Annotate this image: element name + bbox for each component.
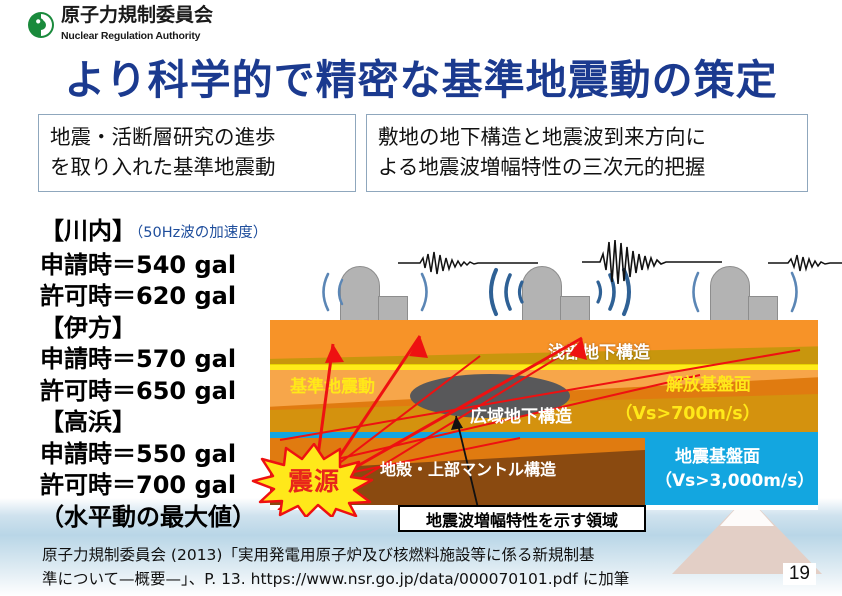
row-label: 申請時＝ bbox=[40, 251, 136, 279]
seismograph-trace-left bbox=[398, 246, 538, 280]
row-value: 650 gal bbox=[136, 377, 236, 405]
amplification-callout: 地震波増幅特性を示す領域 bbox=[398, 505, 646, 532]
callout-box-right: 敷地の地下構造と地震波到来方向に よる地震波増幅特性の三次元的把握 bbox=[366, 114, 808, 192]
hz-note: （50Hz波の加速度） bbox=[136, 225, 267, 241]
site-1-header: 【伊方】 bbox=[40, 313, 290, 345]
hypocenter-marker: 震源 bbox=[248, 443, 380, 517]
logo-title-en: Nuclear Regulation Authority bbox=[61, 30, 200, 42]
power-plant-row bbox=[270, 250, 830, 322]
logo-title-jp: 原子力規制委員会 bbox=[61, 4, 213, 26]
page-number: 19 bbox=[783, 563, 816, 585]
source-citation: 原子力規制委員会 (2013)「実用発電用原子炉及び核燃料施設等に係る新規制基 … bbox=[42, 543, 742, 591]
seismograph-trace-right bbox=[768, 246, 842, 280]
hypocenter-label: 震源 bbox=[248, 443, 380, 517]
row-label: 申請時＝ bbox=[40, 345, 136, 373]
row-label: 許可時＝ bbox=[40, 377, 136, 405]
seismograph-trace-center bbox=[582, 238, 722, 286]
site-1-row-0: 申請時＝570 gal bbox=[40, 344, 290, 376]
wave-arcs-left bbox=[312, 268, 358, 316]
nra-logo: 原子力規制委員会 Nuclear Regulation Authority bbox=[27, 6, 213, 44]
callout-box-left: 地震・活断層研究の進歩 を取り入れた基準地震動 bbox=[38, 114, 356, 192]
row-value: 700 gal bbox=[136, 471, 236, 499]
row-value: 540 gal bbox=[136, 251, 236, 279]
row-label: 申請時＝ bbox=[40, 440, 136, 468]
row-label: 許可時＝ bbox=[40, 471, 136, 499]
row-value: 550 gal bbox=[136, 440, 236, 468]
row-label: 許可時＝ bbox=[40, 282, 136, 310]
site-0-name: 【川内】 bbox=[40, 217, 136, 245]
site-0-header: 【川内】（50Hz波の加速度） bbox=[40, 216, 290, 250]
slide-canvas: 原子力規制委員会 Nuclear Regulation Authority より… bbox=[0, 0, 842, 596]
nra-swirl-logo-icon bbox=[27, 11, 55, 39]
row-value: 570 gal bbox=[136, 345, 236, 373]
row-value: 620 gal bbox=[136, 282, 236, 310]
site-0-row-0: 申請時＝540 gal bbox=[40, 250, 290, 282]
page-title: より科学的で精密な基準地震動の策定 bbox=[0, 46, 842, 106]
site-1-row-1: 許可時＝650 gal bbox=[40, 376, 290, 408]
site-0-row-1: 許可時＝620 gal bbox=[40, 281, 290, 313]
site-2-header: 【高浜】 bbox=[40, 407, 290, 439]
